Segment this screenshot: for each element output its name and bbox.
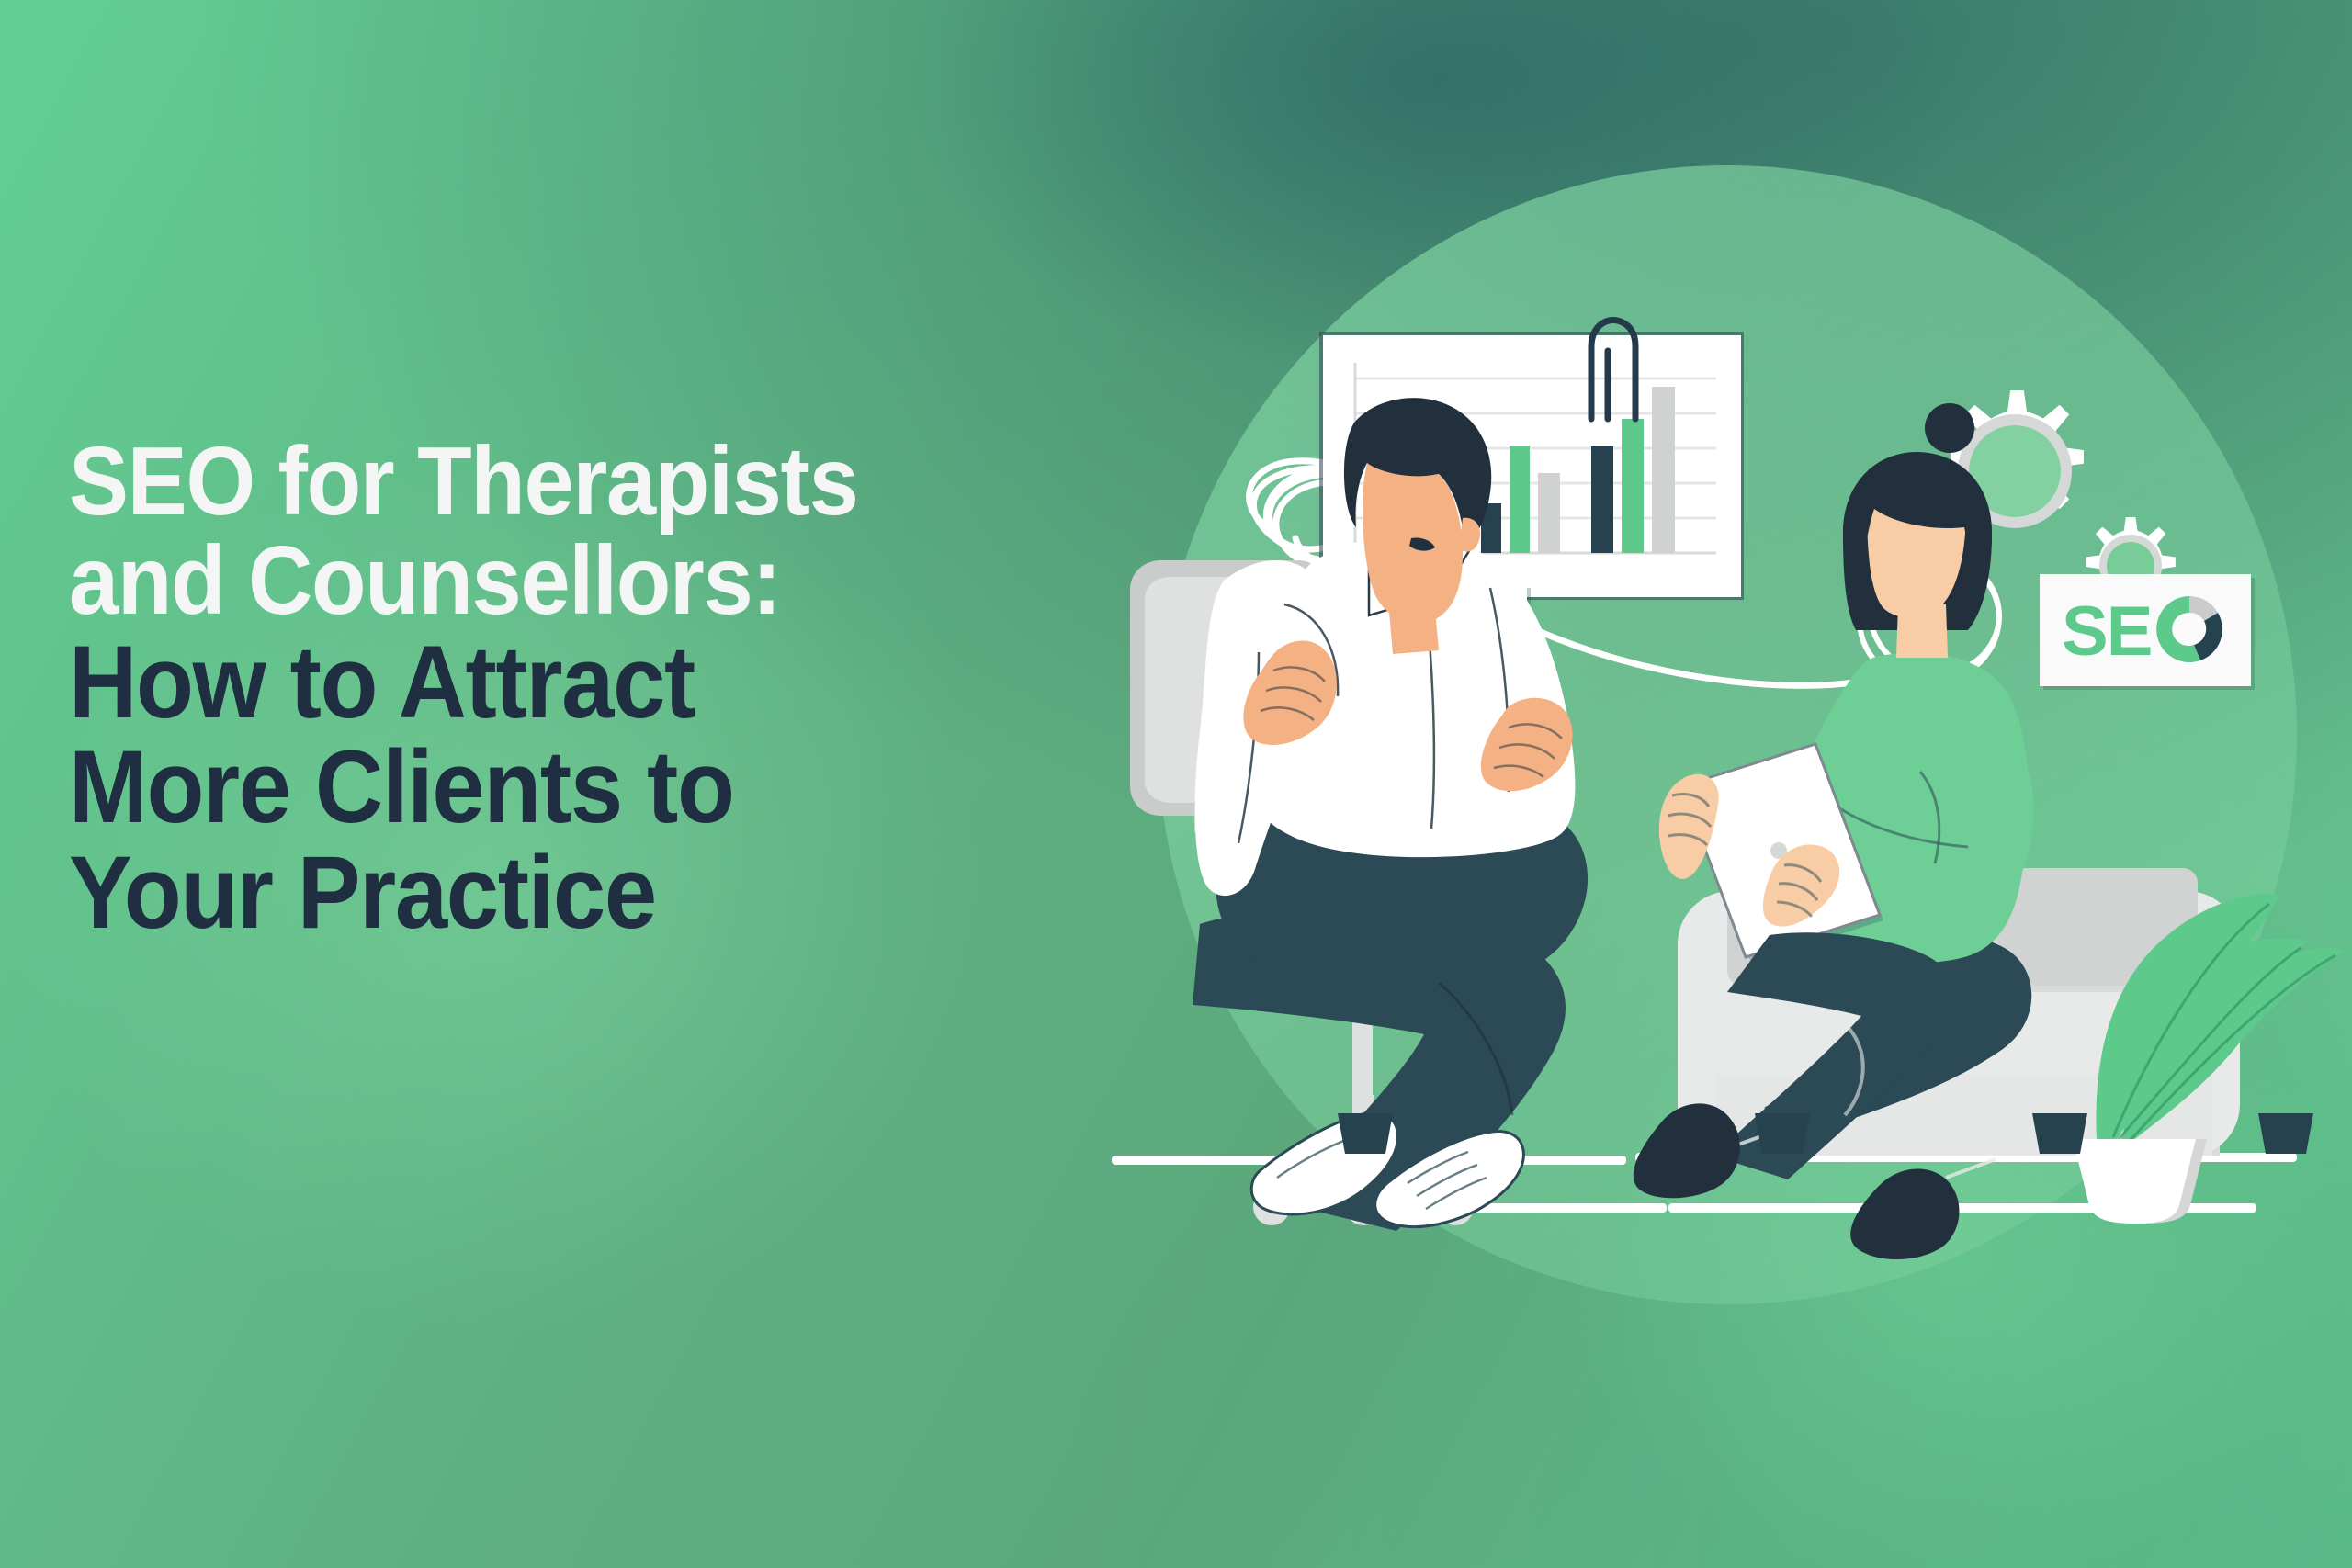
seo-badge: SE bbox=[2040, 574, 2255, 690]
bar-g2-green bbox=[1510, 446, 1530, 553]
headline-line-2: and Counsellors: bbox=[69, 531, 1067, 630]
headline-line-5: Your Practice bbox=[69, 840, 1067, 945]
seo-consulting-illustration: SE bbox=[1121, 138, 2343, 1442]
bar-g3-navy bbox=[1591, 446, 1613, 553]
headline-line-4: More Clients to bbox=[69, 735, 1067, 840]
client-hair-bun bbox=[1925, 403, 1974, 453]
headline-line-1: SEO for Therapists bbox=[69, 432, 1067, 531]
seo-badge-label: SE bbox=[2062, 592, 2151, 671]
bar-g3-grey bbox=[1652, 387, 1675, 553]
headline-line-3: How to Attract bbox=[69, 630, 1067, 735]
bar-g3-green bbox=[1622, 419, 1644, 553]
page-title: SEO for Therapists and Counsellors: How … bbox=[69, 432, 1153, 945]
poster-canvas: SEO for Therapists and Counsellors: How … bbox=[0, 0, 2352, 1568]
client-neck bbox=[1896, 604, 1948, 658]
bar-g2-grey bbox=[1538, 473, 1560, 553]
therapist-neck bbox=[1389, 610, 1439, 654]
